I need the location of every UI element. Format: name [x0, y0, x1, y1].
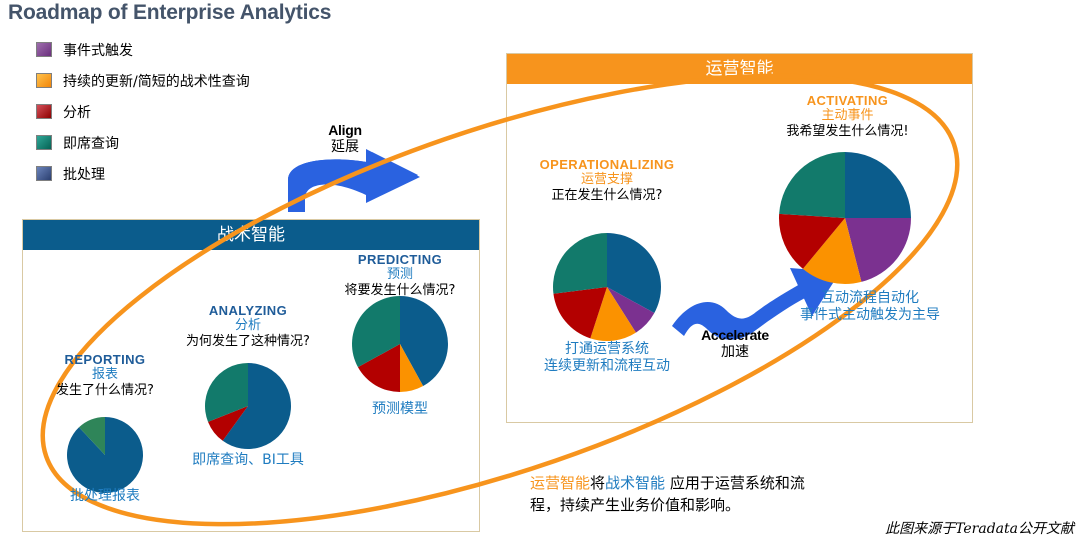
panel-tactical-header: 战术智能	[23, 220, 479, 250]
legend-item-adhoc-query: 即席查询	[36, 127, 456, 158]
slide-canvas: Roadmap of Enterprise Analytics 事件式触发 持续…	[0, 0, 1080, 543]
legend-swatch-continuous-update	[36, 73, 52, 88]
panel-operational-header: 运营智能	[507, 54, 972, 84]
footer-ti-term: 战术智能	[605, 474, 665, 492]
stage-operationalizing: OPERATIONALIZING 运营支撑 正在发生什么情况?	[507, 157, 707, 203]
page-title: Roadmap of Enterprise Analytics	[8, 1, 331, 25]
stage-operationalizing-question: 正在发生什么情况?	[507, 188, 707, 203]
stage-activating-cn: 主动事件	[745, 108, 950, 123]
stage-activating-en: ACTIVATING	[745, 93, 950, 108]
stage-analyzing: ANALYZING 分析 为何发生了这种情况?	[148, 303, 348, 349]
stage-operationalizing-en: OPERATIONALIZING	[507, 157, 707, 172]
stage-activating-label-line2: 事件式主动触发为主导	[760, 307, 980, 324]
stage-predicting-question: 将要发生什么情况?	[300, 283, 500, 298]
stage-operationalizing-caption: OPERATIONALIZING 运营支撑 正在发生什么情况?	[507, 157, 707, 203]
stage-analyzing-en: ANALYZING	[148, 303, 348, 318]
stage-reporting-question: 发生了什么情况?	[0, 383, 210, 398]
stage-analyzing-label: 即席查询、BI工具	[158, 452, 338, 469]
stage-operationalizing-label-line1: 打通运营系统	[517, 341, 697, 358]
legend-swatch-batch	[36, 166, 52, 181]
accelerate-arrow-caption: Accelerate 加速	[680, 327, 790, 361]
legend-label-analysis: 分析	[63, 102, 91, 122]
align-arrow-en: Align	[300, 122, 390, 139]
stage-operationalizing-label: 打通运营系统 连续更新和流程互动	[517, 341, 697, 375]
stage-analyzing-cn: 分析	[148, 318, 348, 333]
align-arrow-cn: 延展	[300, 139, 390, 156]
legend-swatch-event-trigger	[36, 42, 52, 57]
legend-label-continuous-update: 持续的更新/简短的战术性查询	[63, 71, 250, 91]
accelerate-arrow-en: Accelerate	[680, 327, 790, 344]
stage-operationalizing-cn: 运营支撑	[507, 172, 707, 187]
stage-activating-question: 我希望发生什么情况!	[745, 124, 950, 139]
stage-operationalizing-label-line2: 连续更新和流程互动	[517, 358, 697, 375]
stage-predicting-cn: 预测	[300, 267, 500, 282]
footer-line2: 程，持续产生业务价值和影响。	[530, 496, 740, 514]
stage-reporting-en: REPORTING	[0, 352, 210, 367]
legend-item-continuous-update: 持续的更新/简短的战术性查询	[36, 65, 456, 96]
footer-note: 运营智能将战术智能 应用于运营系统和流 程，持续产生业务价值和影响。	[530, 473, 1010, 517]
stage-analyzing-caption: ANALYZING 分析 为何发生了这种情况?	[148, 303, 348, 349]
legend-item-event-trigger: 事件式触发	[36, 34, 456, 65]
legend-label-event-trigger: 事件式触发	[63, 40, 133, 60]
footer-oi-term: 运营智能	[530, 474, 590, 492]
stage-reporting-cn: 报表	[0, 367, 210, 382]
legend-label-batch: 批处理	[63, 164, 105, 184]
source-attribution: 此图来源于Teradata公开文献	[885, 518, 1074, 538]
stage-activating-label-line1: 互动流程自动化	[760, 290, 980, 307]
accelerate-arrow-cn: 加速	[680, 344, 790, 361]
stage-predicting: PREDICTING 预测 将要发生什么情况?	[300, 252, 500, 298]
align-arrow-caption: Align 延展	[300, 122, 390, 156]
stage-predicting-caption: PREDICTING 预测 将要发生什么情况?	[300, 252, 500, 298]
stage-predicting-en: PREDICTING	[300, 252, 500, 267]
legend-label-adhoc-query: 即席查询	[63, 133, 119, 153]
legend-item-analysis: 分析	[36, 96, 456, 127]
stage-reporting: REPORTING 报表 发生了什么情况?	[0, 352, 210, 398]
footer-connector: 将	[590, 474, 605, 492]
stage-reporting-label: 批处理报表	[25, 488, 185, 505]
stage-activating: ACTIVATING 主动事件 我希望发生什么情况!	[745, 93, 950, 139]
legend-swatch-adhoc-query	[36, 135, 52, 150]
stage-reporting-caption: REPORTING 报表 发生了什么情况?	[0, 352, 210, 398]
stage-predicting-label: 预测模型	[320, 401, 480, 418]
stage-activating-caption: ACTIVATING 主动事件 我希望发生什么情况!	[745, 93, 950, 139]
footer-line1-rest: 应用于运营系统和流	[665, 474, 805, 492]
stage-analyzing-question: 为何发生了这种情况?	[148, 334, 348, 349]
legend-swatch-analysis	[36, 104, 52, 119]
legend-item-batch: 批处理	[36, 158, 456, 189]
legend: 事件式触发 持续的更新/简短的战术性查询 分析 即席查询 批处理	[36, 34, 456, 189]
stage-activating-label: 互动流程自动化 事件式主动触发为主导	[760, 290, 980, 324]
